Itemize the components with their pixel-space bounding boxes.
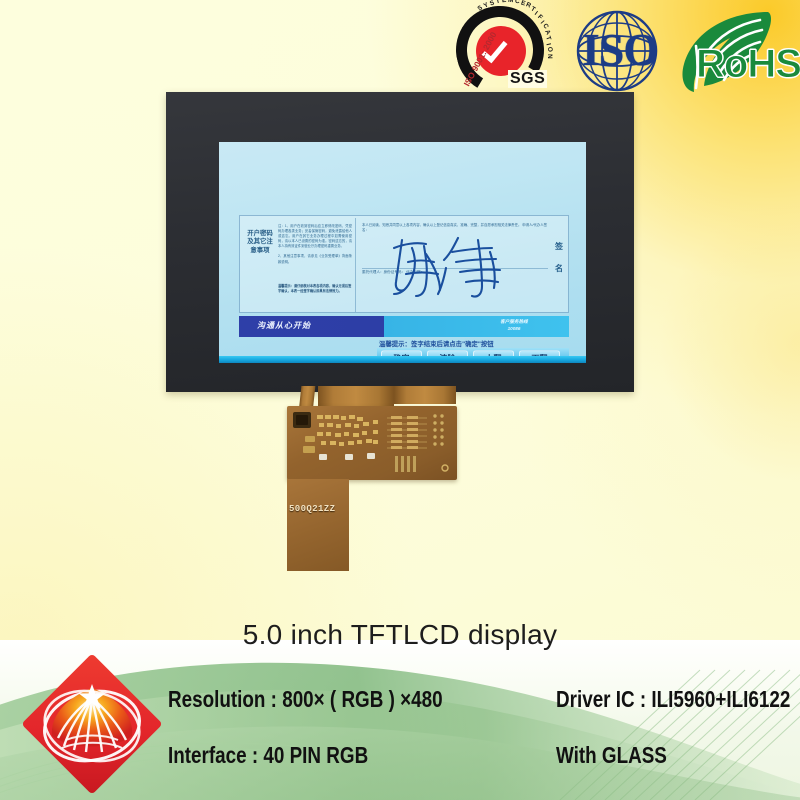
form-paragraph-left: 注：1、用户在收到密码后应立即修改密码，凭密码办理各类业务；妥善保管密码，避免泄…: [278, 224, 352, 265]
spec-glass: With GLASS: [556, 742, 667, 769]
company-diamond-logo: [22, 654, 162, 794]
fpc-part-number: 500Q21ZZ: [289, 504, 335, 514]
bank-form-card: 开户密码及其它注意事项 注：1、用户在收到密码后应立即修改密码，凭密码办理各类业…: [239, 215, 569, 313]
product-title: 5.0 inch TFTLCD display: [0, 619, 800, 651]
hotline-label: 客户服务热线: [439, 318, 586, 325]
fpc-flex-cable-assembly: 500Q21ZZ: [282, 386, 492, 596]
fpc-ribbon-right: [394, 386, 456, 404]
form-note-text: 温馨提示：请仔细核对本表各项内容，确认无误后签字确认，本表一经签字确认即具有法律…: [278, 284, 352, 294]
form-paragraph-left-1: 注：1、用户在收到密码后应立即修改密码，凭密码办理各类业务；妥善保管密码，避免泄…: [278, 224, 352, 249]
screen-tip-text: 温馨提示：签字结束后请点击"确定"按钮: [379, 339, 584, 348]
tftlcd-module: 开户密码及其它注意事项 注：1、用户在收到密码后应立即修改密码，凭密码办理各类业…: [166, 92, 634, 392]
rohs-certification-logo: RoHS: [672, 6, 800, 96]
lcd-screen-display: 开户密码及其它注意事项 注：1、用户在收到密码后应立即修改密码，凭密码办理各类业…: [219, 142, 586, 356]
spec-interface: Interface : 40 PIN RGB: [168, 742, 368, 769]
fpc-tail-lower: [287, 479, 349, 571]
form-column-divider: [355, 218, 356, 312]
spec-driver-ic: Driver IC : ILI5960+ILI6122: [556, 686, 790, 713]
signature-label: 签名: [552, 236, 566, 280]
handwritten-signature: [382, 228, 532, 302]
form-paragraph-left-2: 2、其他注意事项，请参见《业务受理单》背面条款说明。: [278, 254, 352, 264]
carrier-slogan-bar: 沟通从心开始 客户服务热线 10086: [239, 316, 569, 337]
spec-row: Resolution : 800× ( RGB ) ×480 Driver IC…: [168, 686, 800, 742]
screen-button-row: 确定 清除 上翻 下翻: [377, 348, 569, 356]
hotline-block: 客户服务热线 10086: [439, 318, 586, 332]
product-spec-grid: Resolution : 800× ( RGB ) ×480 Driver IC…: [168, 686, 800, 798]
fpc-driver-board: [287, 406, 457, 480]
sgs-label: SGS: [508, 70, 547, 88]
hotline-number: 10086: [439, 325, 586, 332]
iso-label: ISO: [562, 27, 678, 73]
iso-certification-logo: ISO: [562, 8, 678, 94]
slogan-text: 沟通从心开始: [257, 320, 311, 331]
pcb-components: [287, 406, 457, 480]
spec-resolution: Resolution : 800× ( RGB ) ×480: [168, 686, 443, 713]
form-vertical-label: 开户密码及其它注意事项: [247, 230, 273, 255]
lcd-bottom-light-strip: [219, 356, 586, 363]
sgs-certification-logo: S Y S T E M C E R T I F I C A T I O N IS…: [452, 4, 562, 98]
rohs-label: RoHS: [696, 44, 800, 84]
spec-row: Interface : 40 PIN RGB With GLASS: [168, 742, 800, 798]
